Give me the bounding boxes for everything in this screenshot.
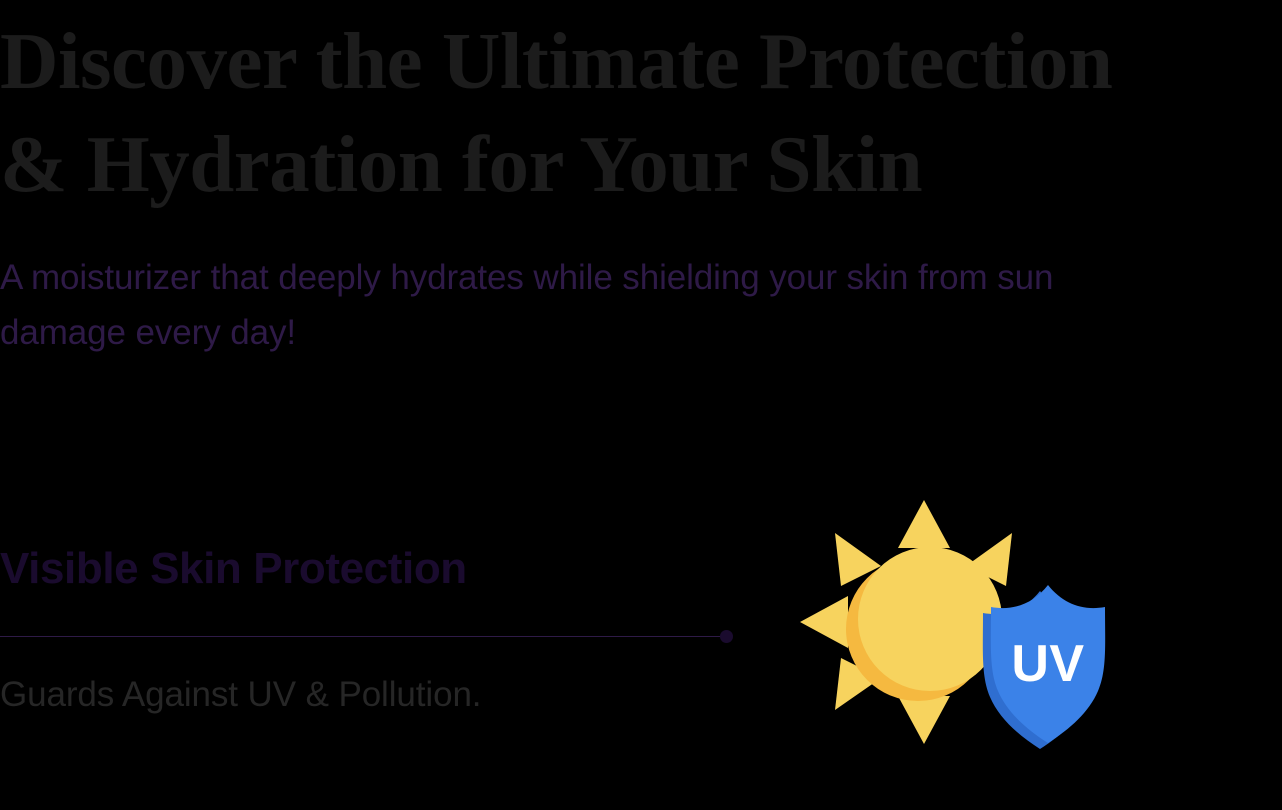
- hero-section: Discover the Ultimate Protection & Hydra…: [0, 0, 1282, 810]
- uv-shield-group: UV: [983, 585, 1105, 749]
- feature-description: Guards Against UV & Pollution.: [0, 673, 760, 717]
- sun-uv-shield-illustration: UV: [790, 488, 1110, 756]
- sun-ray-icon-n: [898, 500, 950, 548]
- sun-ray-icon-s: [898, 696, 950, 744]
- feature-title: Visible Skin Protection: [0, 540, 760, 598]
- hero-subtitle: A moisturizer that deeply hydrates while…: [0, 250, 1175, 360]
- divider-line: [0, 636, 728, 637]
- divider-endpoint-dot: [720, 630, 733, 643]
- page-title: Discover the Ultimate Protection & Hydra…: [0, 10, 1200, 216]
- feature-block: Visible Skin Protection Guards Against U…: [0, 540, 760, 717]
- feature-divider: [0, 630, 760, 643]
- sun-disc: [858, 547, 1002, 691]
- sun-ray-icon-w: [800, 596, 848, 648]
- shield-uv-label: UV: [1011, 635, 1084, 693]
